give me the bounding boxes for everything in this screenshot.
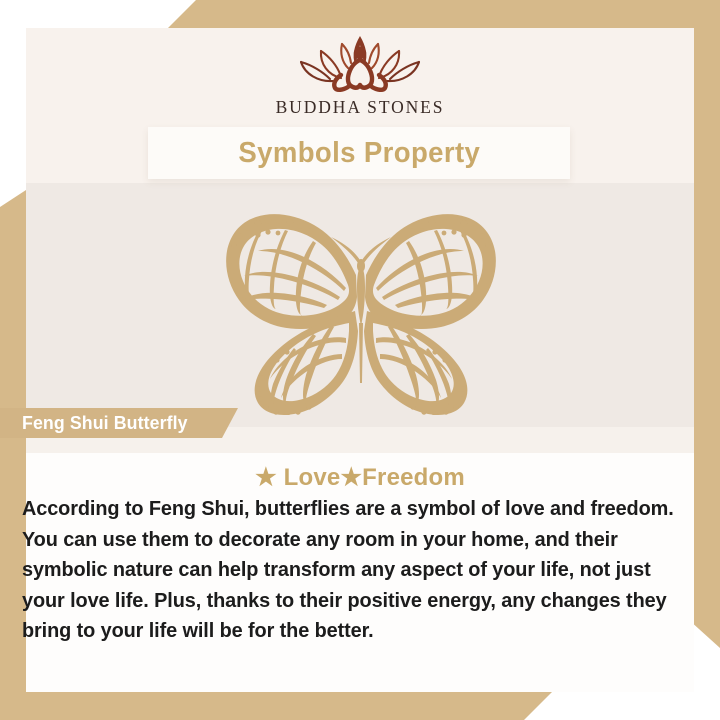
monarch-butterfly-icon [196,203,526,415]
brand-logo: BUDDHA STONES [0,26,720,118]
tag-label: Feng Shui Butterfly [22,412,188,434]
feng-shui-butterfly-tag: Feng Shui Butterfly [0,408,238,438]
title-banner: Symbols Property [148,127,570,179]
description-paragraph: According to Feng Shui, butterflies are … [22,494,689,647]
page-title: Symbols Property [238,137,480,170]
lotus-meditation-icon [285,26,435,94]
love-freedom-heading: ★ Love★Freedom [0,463,720,492]
brand-name: BUDDHA STONES [0,97,720,118]
poster-canvas: BUDDHA STONES Symbols Property [0,0,720,720]
frame-top-band [0,0,720,28]
frame-bottom-band [0,692,720,720]
butterfly-illustration [196,203,526,415]
